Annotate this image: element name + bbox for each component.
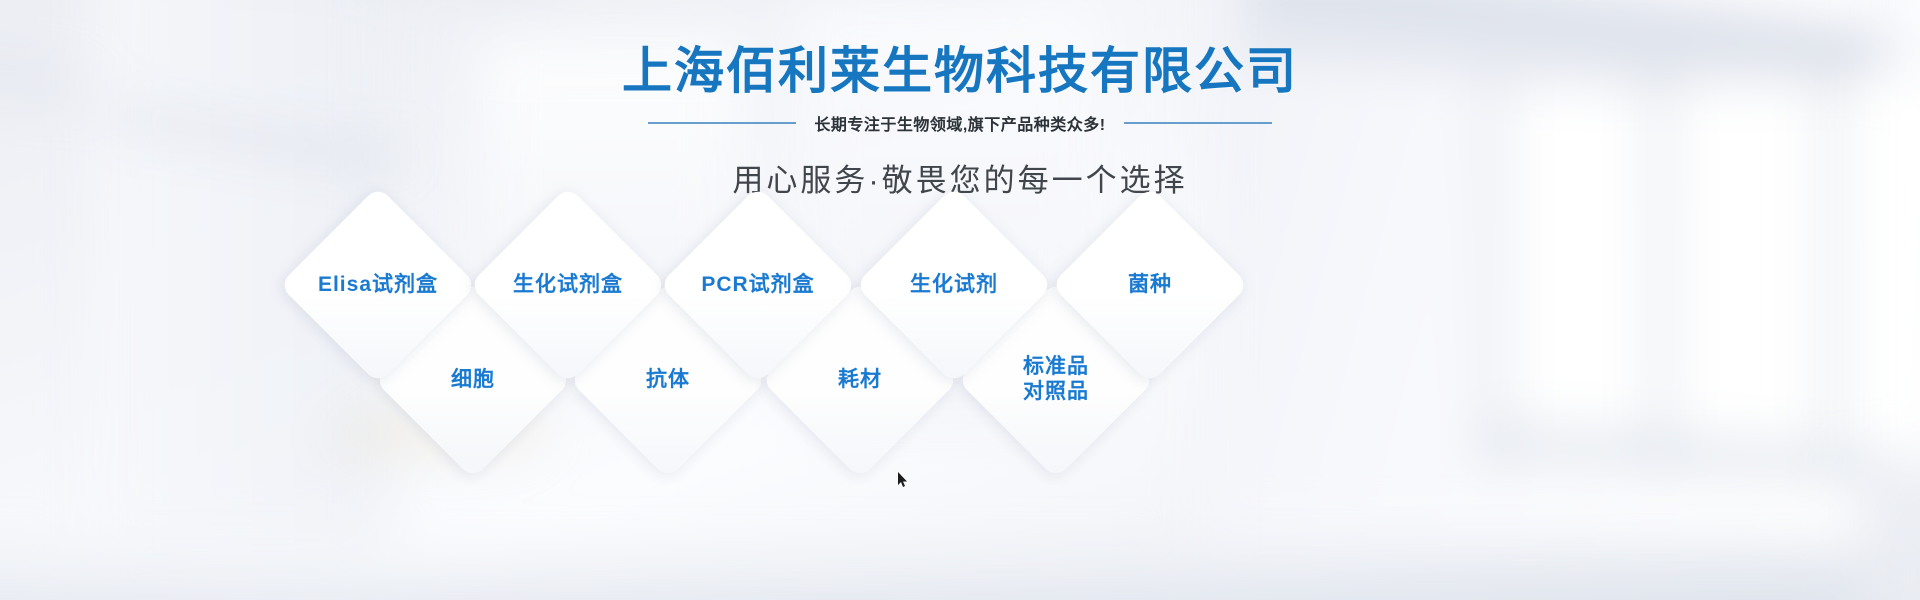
category-label: 生化试剂盒 — [458, 215, 678, 355]
category-diamond-grid: 细胞 抗体 耗材 标准品 对照品 Elisa试剂盒 生化试剂盒 PCR试剂盒 — [0, 0, 1920, 600]
mouse-pointer-icon — [897, 472, 909, 488]
category-label: Elisa试剂盒 — [268, 215, 488, 355]
category-label: 菌种 — [1040, 215, 1260, 355]
category-label: 生化试剂 — [844, 215, 1064, 355]
category-label: PCR试剂盒 — [648, 215, 868, 355]
hero-banner: 上海佰利莱生物科技有限公司 长期专注于生物领域,旗下产品种类众多! 用心服务·敬… — [0, 0, 1920, 600]
